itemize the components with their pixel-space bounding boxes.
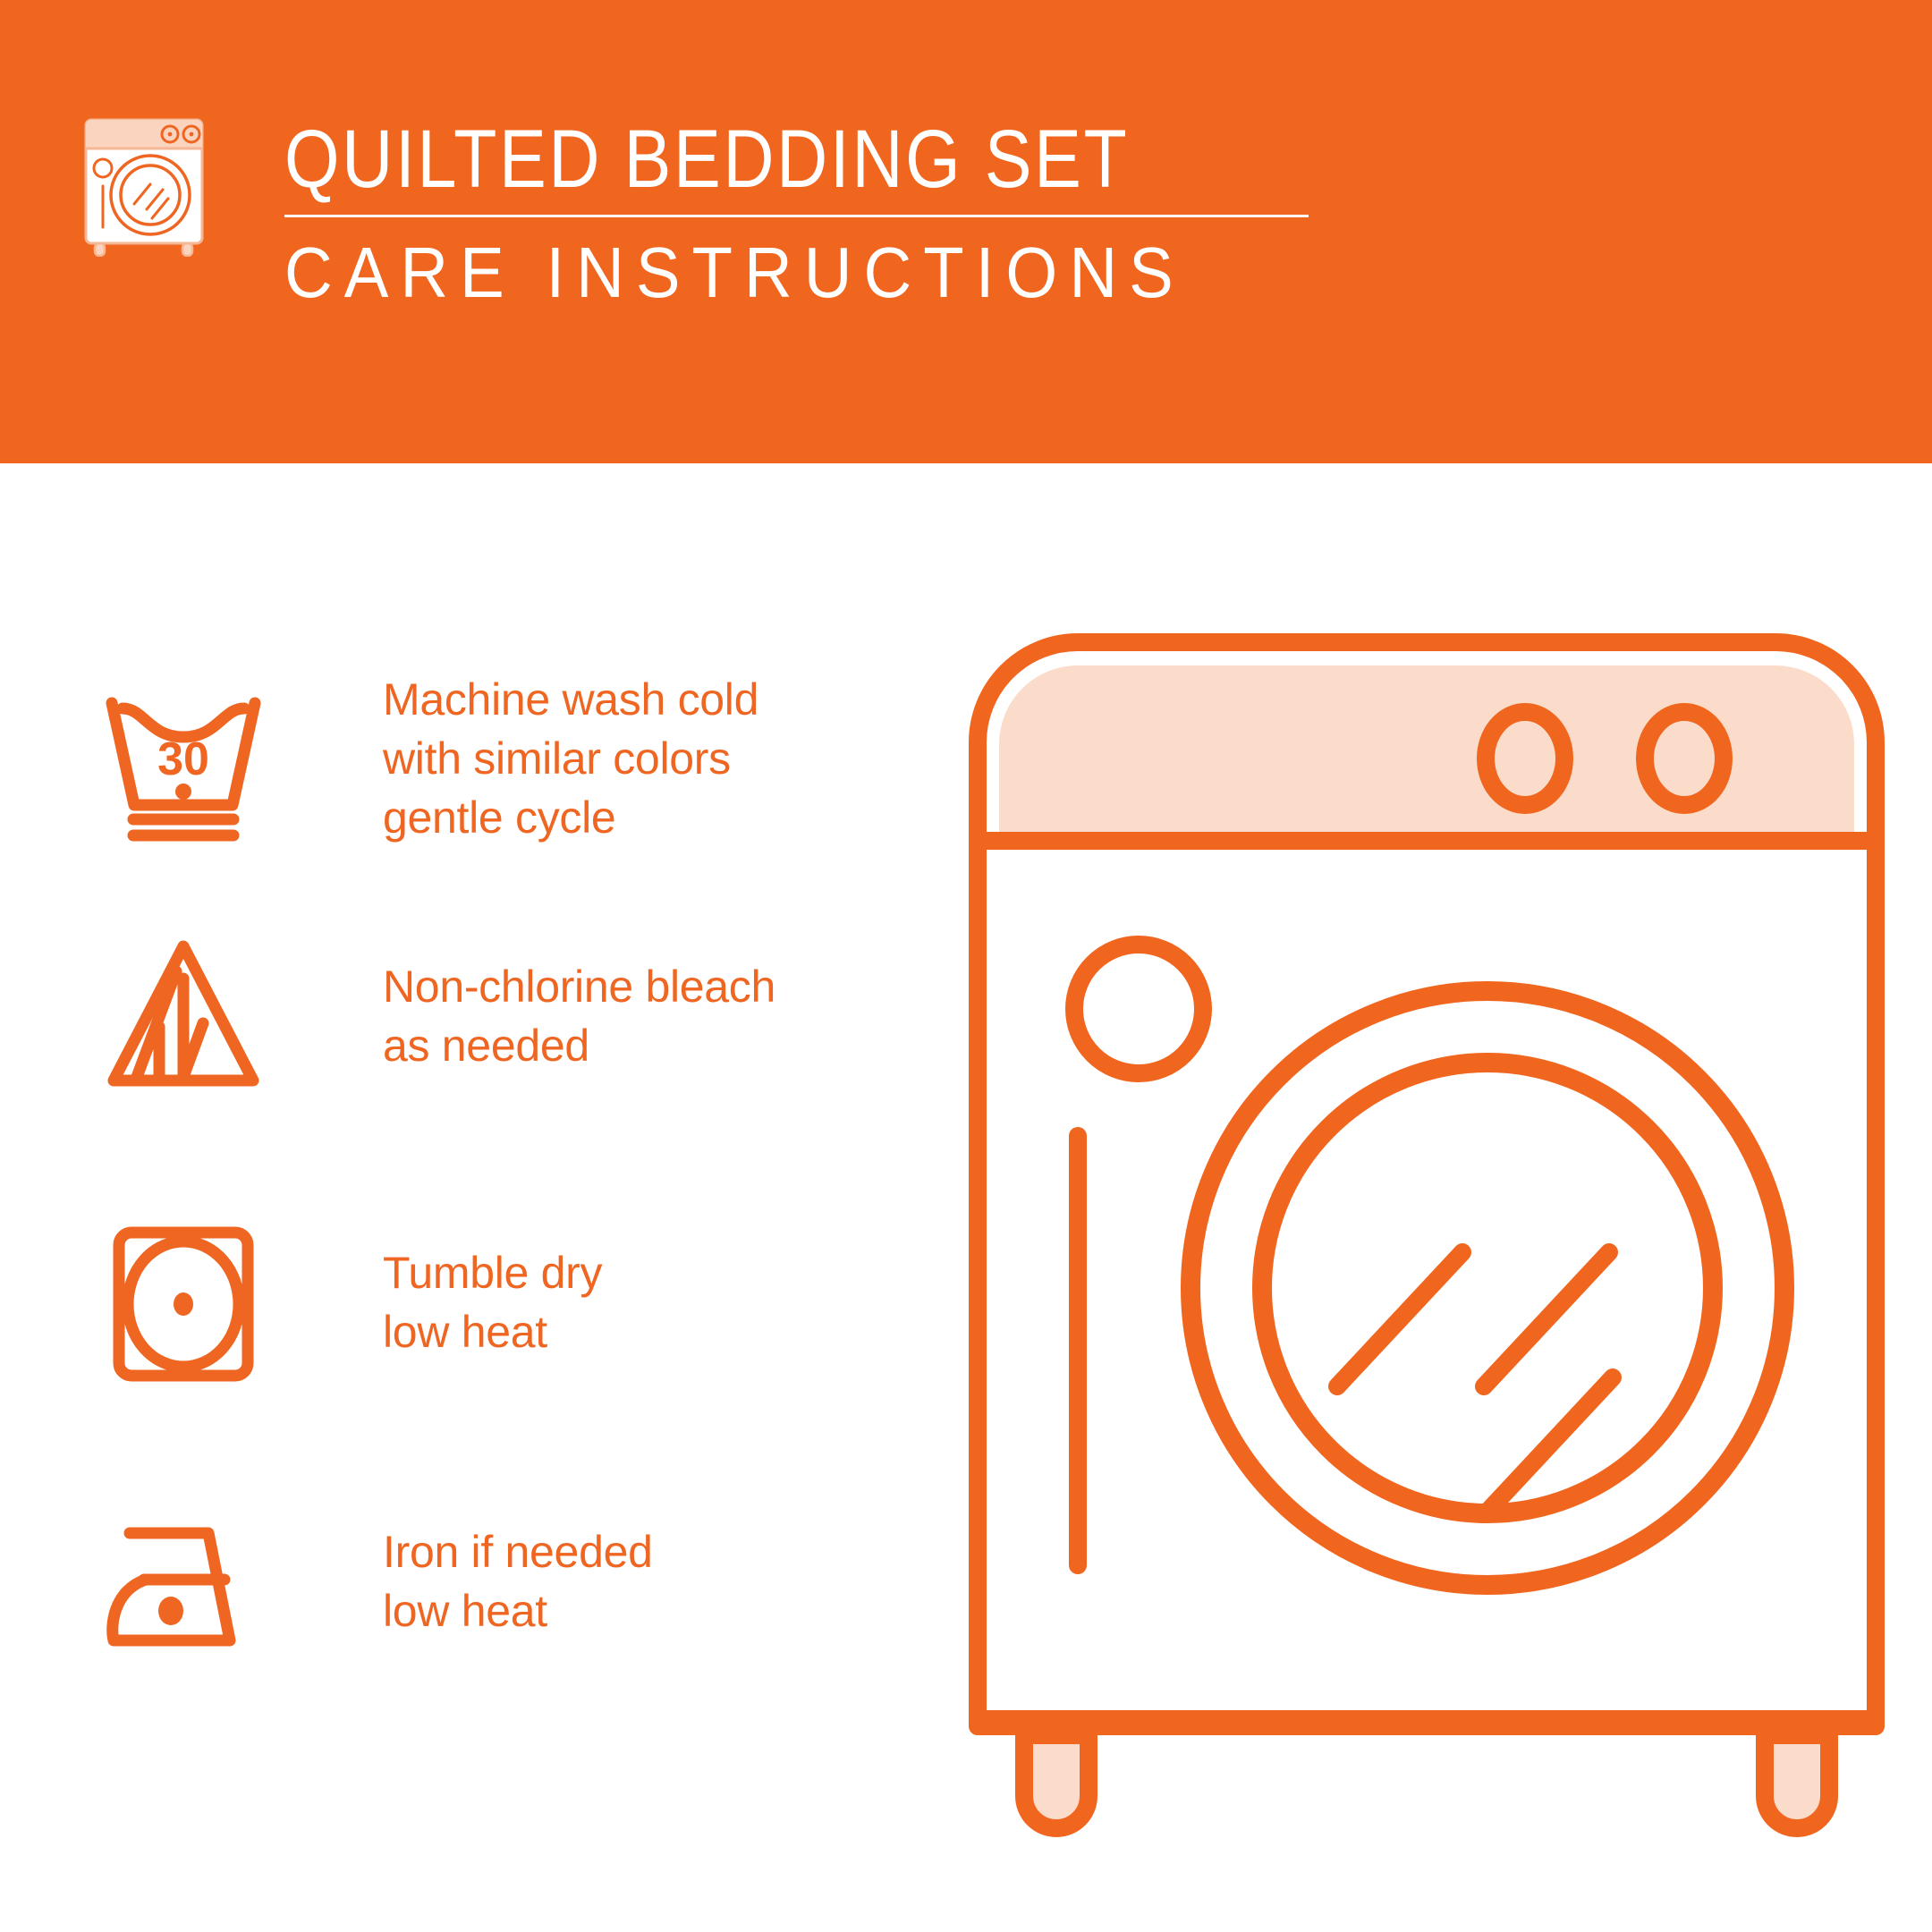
- care-item-label: Iron if needed low heat: [383, 1522, 653, 1640]
- care-label-line: Iron if needed: [383, 1522, 653, 1581]
- care-label-line: low heat: [383, 1302, 602, 1361]
- care-item-tumble-dry: Tumble dry low heat: [89, 1213, 602, 1392]
- care-label-line: with similar colors: [383, 729, 758, 788]
- care-item-bleach: Non-chlorine bleach as needed: [89, 927, 775, 1106]
- care-label-line: gentle cycle: [383, 788, 758, 847]
- washing-machine-icon: [73, 100, 230, 257]
- page-title: QUILTED BEDDING SET: [284, 118, 1169, 202]
- care-label-line: Machine wash cold: [383, 670, 758, 729]
- bleach-triangle-icon: [89, 927, 277, 1106]
- page-subtitle: CARE INSTRUCTIONS: [284, 237, 1241, 309]
- care-label-line: Tumble dry: [383, 1243, 602, 1302]
- care-item-machine-wash: 30 Machine wash cold with similar colors…: [89, 669, 758, 848]
- wash-tub-30-icon: 30: [89, 669, 277, 848]
- care-label-line: as needed: [383, 1016, 775, 1075]
- care-label-line: low heat: [383, 1581, 653, 1640]
- care-item-label: Machine wash cold with similar colors ge…: [383, 670, 758, 847]
- header-text-block: QUILTED BEDDING SET CARE INSTRUCTIONS: [284, 118, 1313, 309]
- care-label-line: Non-chlorine bleach: [383, 957, 775, 1016]
- care-item-iron: Iron if needed low heat: [89, 1492, 653, 1671]
- tumble-dry-icon: [89, 1213, 277, 1392]
- care-item-label: Non-chlorine bleach as needed: [383, 957, 775, 1075]
- iron-icon: [89, 1492, 277, 1671]
- wash-temperature-value: 30: [157, 733, 209, 785]
- washing-machine-illustration: [962, 626, 1892, 1860]
- header-banner: QUILTED BEDDING SET CARE INSTRUCTIONS: [0, 0, 1932, 463]
- care-item-label: Tumble dry low heat: [383, 1243, 602, 1361]
- title-divider: [284, 215, 1309, 217]
